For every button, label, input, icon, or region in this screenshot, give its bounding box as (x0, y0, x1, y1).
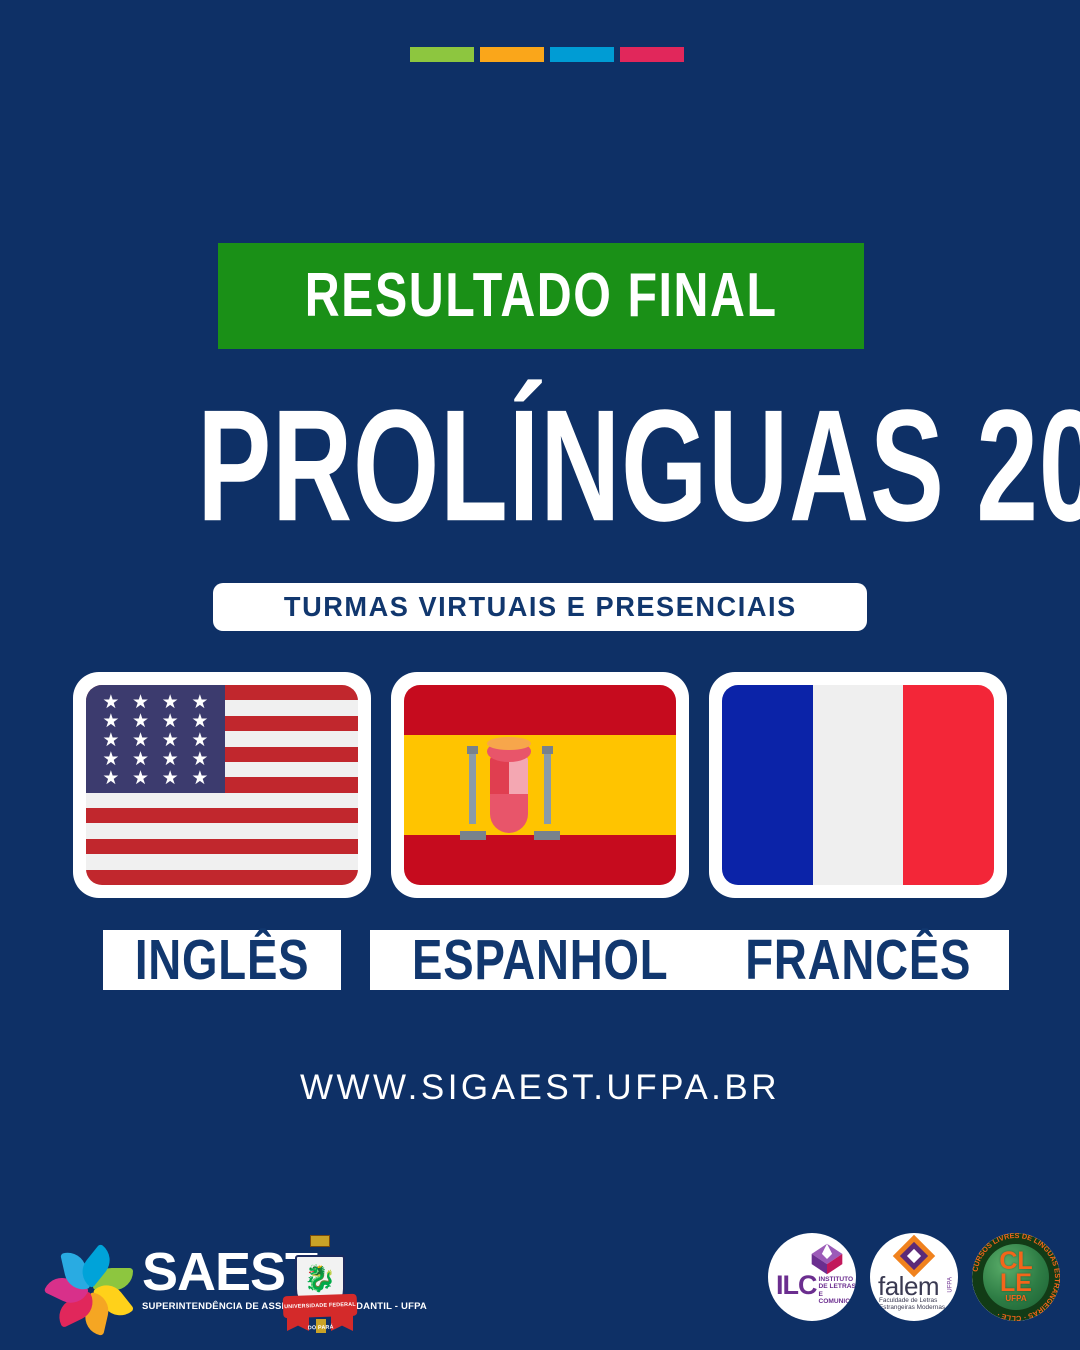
falem-line2: Estrangeiras Modernas (879, 1304, 945, 1311)
language-label-french: FRANCÊS (707, 930, 1010, 990)
ufpa-bird-icon: 🐉 (301, 1263, 339, 1293)
ilc-line1: INSTITUTO (819, 1276, 857, 1283)
language-label-english: INGLÊS (103, 930, 341, 990)
bar-pink-icon (620, 47, 684, 62)
falem-line1: Faculdade de Letras (879, 1297, 945, 1304)
clle-logo: CURSOS LIVRES DE LÍNGUAS ESTRANGEIRAS · … (972, 1233, 1060, 1321)
bar-orange-icon (480, 47, 544, 62)
bar-blue-icon (550, 47, 614, 62)
saest-pinwheel-icon (50, 1238, 132, 1320)
clle-letters: CL LE UFPA (972, 1233, 1060, 1321)
flag-card-english[interactable]: ★★★★ ★★★★ ★★★★ ★★★★ ★★★★ (73, 672, 371, 898)
ilc-acronym: ILC (776, 1273, 817, 1297)
ilc-logo: ILC INSTITUTO DE LETRAS E COMUNICAÇÃO (768, 1233, 856, 1321)
ufpa-seal-icon: 🐉 UNIVERSIDADE FEDERAL DO PARÁ (283, 1233, 357, 1338)
es-flag-icon (404, 685, 676, 885)
flag-card-french[interactable] (709, 672, 1007, 898)
language-slot-french: FRANCÊS (709, 930, 1007, 990)
ufpa-crown-icon (310, 1235, 330, 1247)
result-banner: RESULTADO FINAL (218, 243, 864, 349)
subtitle-text: TURMAS VIRTUAIS E PRESENCIAIS (284, 591, 797, 623)
bar-green-icon (410, 47, 474, 62)
falem-name: falem (878, 1273, 939, 1299)
flag-card-spanish[interactable] (391, 672, 689, 898)
flags-row: ★★★★ ★★★★ ★★★★ ★★★★ ★★★★ (0, 672, 1080, 898)
top-color-bars (410, 47, 684, 62)
fr-flag-icon (722, 685, 994, 885)
page-title: PROLÍNGUAS 2023.2 (0, 392, 1080, 530)
language-label-spanish-text: ESPANHOL (412, 930, 668, 990)
language-labels: INGLÊS ESPANHOL FRANCÊS (0, 930, 1080, 990)
page-title-text: PROLÍNGUAS 2023.2 (197, 392, 1080, 538)
saest-logo: SAEST SUPERINTENDÊNCIA DE ASSISTÊNCIA ES… (50, 1238, 427, 1320)
ufpa-ribbon: UNIVERSIDADE FEDERAL DO PARÁ (283, 1294, 358, 1319)
partner-logos: ILC INSTITUTO DE LETRAS E COMUNICAÇÃO fa… (768, 1233, 1060, 1321)
language-slot-spanish: ESPANHOL (391, 930, 689, 990)
language-slot-english: INGLÊS (73, 930, 371, 990)
subtitle-pill: TURMAS VIRTUAIS E PRESENCIAIS (213, 583, 867, 631)
clle-sub: UFPA (1005, 1294, 1026, 1304)
language-label-french-text: FRANCÊS (745, 930, 971, 990)
falem-logo: falem Faculdade de Letras Estrangeiras M… (870, 1233, 958, 1321)
us-flag-icon: ★★★★ ★★★★ ★★★★ ★★★★ ★★★★ (86, 685, 358, 885)
clle-line2: LE (1000, 1272, 1032, 1294)
ilc-line3: E COMUNICAÇÃO (819, 1291, 857, 1306)
site-url[interactable]: WWW.SIGAEST.UFPA.BR (0, 1068, 1080, 1108)
result-banner-label: RESULTADO FINAL (305, 265, 778, 327)
falem-side-text: UFPA (948, 1277, 954, 1293)
ilc-line2: DE LETRAS (819, 1283, 857, 1290)
language-label-spanish: ESPANHOL (370, 930, 710, 990)
language-label-english-text: INGLÊS (135, 930, 310, 990)
ufpa-ribbon-text: UNIVERSIDADE FEDERAL DO PARÁ (283, 1294, 358, 1341)
